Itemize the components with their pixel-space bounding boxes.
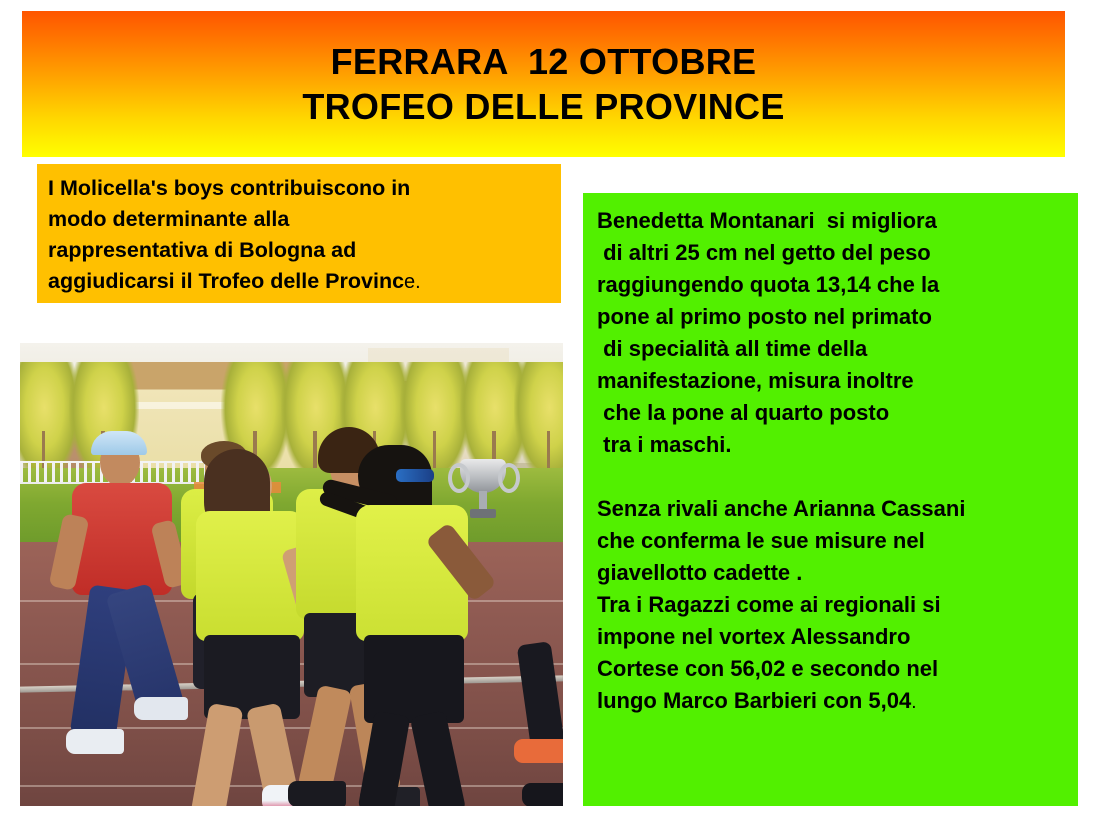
photo-runner-trophy-bearer	[336, 443, 526, 806]
trophy-stem-icon	[479, 491, 487, 511]
green-report-line-12: giavellotto cadette .	[597, 557, 1070, 589]
green-report-line-16-tail: .	[911, 692, 916, 713]
green-report-line-4: pone al primo posto nel primato	[597, 301, 1070, 333]
green-report-line-6: manifestazione, misura inoltre	[597, 365, 1070, 397]
photo-runner-right-edge	[518, 643, 563, 806]
header-title-line-2: TROFEO DELLE PROVINCE	[302, 84, 784, 129]
trophy-handle-icon	[498, 463, 520, 493]
trophy-handle-icon	[448, 463, 470, 493]
photo-runner-leg	[517, 641, 563, 753]
green-report-box: Benedetta Montanari si migliora di altri…	[583, 193, 1078, 806]
photo-runner-shoe	[522, 783, 563, 806]
green-report-line-11: che conferma le sue misure nel	[597, 525, 1070, 557]
green-report-line-16: lungo Marco Barbieri con 5,04.	[597, 685, 1070, 719]
amber-caption-box: I Molicella's boys contribuiscono in mod…	[37, 164, 561, 303]
green-report-line-blank	[597, 461, 1070, 493]
header-banner: FERRARA 12 OTTOBRE TROFEO DELLE PROVINCE	[22, 11, 1065, 157]
amber-caption-line-2: modo determinante alla	[48, 204, 553, 235]
green-report-line-15: Cortese con 56,02 e secondo nel	[597, 653, 1070, 685]
amber-caption-line-3: rappresentativa di Bologna ad	[48, 235, 553, 266]
green-report-line-14: impone nel vortex Alessandro	[597, 621, 1070, 653]
green-report-line-2: di altri 25 cm nel getto del peso	[597, 237, 1070, 269]
header-title-line-1: FERRARA 12 OTTOBRE	[331, 39, 757, 84]
photo-runner-shoe	[66, 729, 124, 754]
green-report-line-5: di specialità all time della	[597, 333, 1070, 365]
photo-runner-leg	[410, 710, 466, 806]
photo-runner-shoe	[514, 739, 563, 763]
photo-runner-sunglasses-icon	[396, 469, 434, 482]
amber-caption-line-4-tail: e.	[404, 271, 421, 293]
photo-runner-cap-icon	[91, 431, 147, 455]
green-report-line-10: Senza rivali anche Arianna Cassani	[597, 493, 1070, 525]
green-report-line-8: tra i maschi.	[597, 429, 1070, 461]
amber-caption-line-4-main: aggiudicarsi il Trofeo delle Provinc	[48, 269, 404, 293]
photo-runner-leg	[191, 703, 244, 806]
amber-caption-line-1: I Molicella's boys contribuiscono in	[48, 173, 553, 204]
athletes-photo	[20, 343, 563, 806]
photo-runner-leg	[358, 711, 411, 806]
trophy-base-icon	[470, 509, 496, 518]
green-report-line-7: che la pone al quarto posto	[597, 397, 1070, 429]
amber-caption-line-4: aggiudicarsi il Trofeo delle Province.	[48, 266, 553, 298]
photo-scene	[20, 343, 563, 806]
green-report-line-13: Tra i Ragazzi come ai regionali si	[597, 589, 1070, 621]
green-report-line-1: Benedetta Montanari si migliora	[597, 205, 1070, 237]
green-report-line-3: raggiungendo quota 13,14 che la	[597, 269, 1070, 301]
green-report-line-16-main: lungo Marco Barbieri con 5,04	[597, 688, 911, 713]
photo-runner-shorts	[364, 635, 464, 723]
